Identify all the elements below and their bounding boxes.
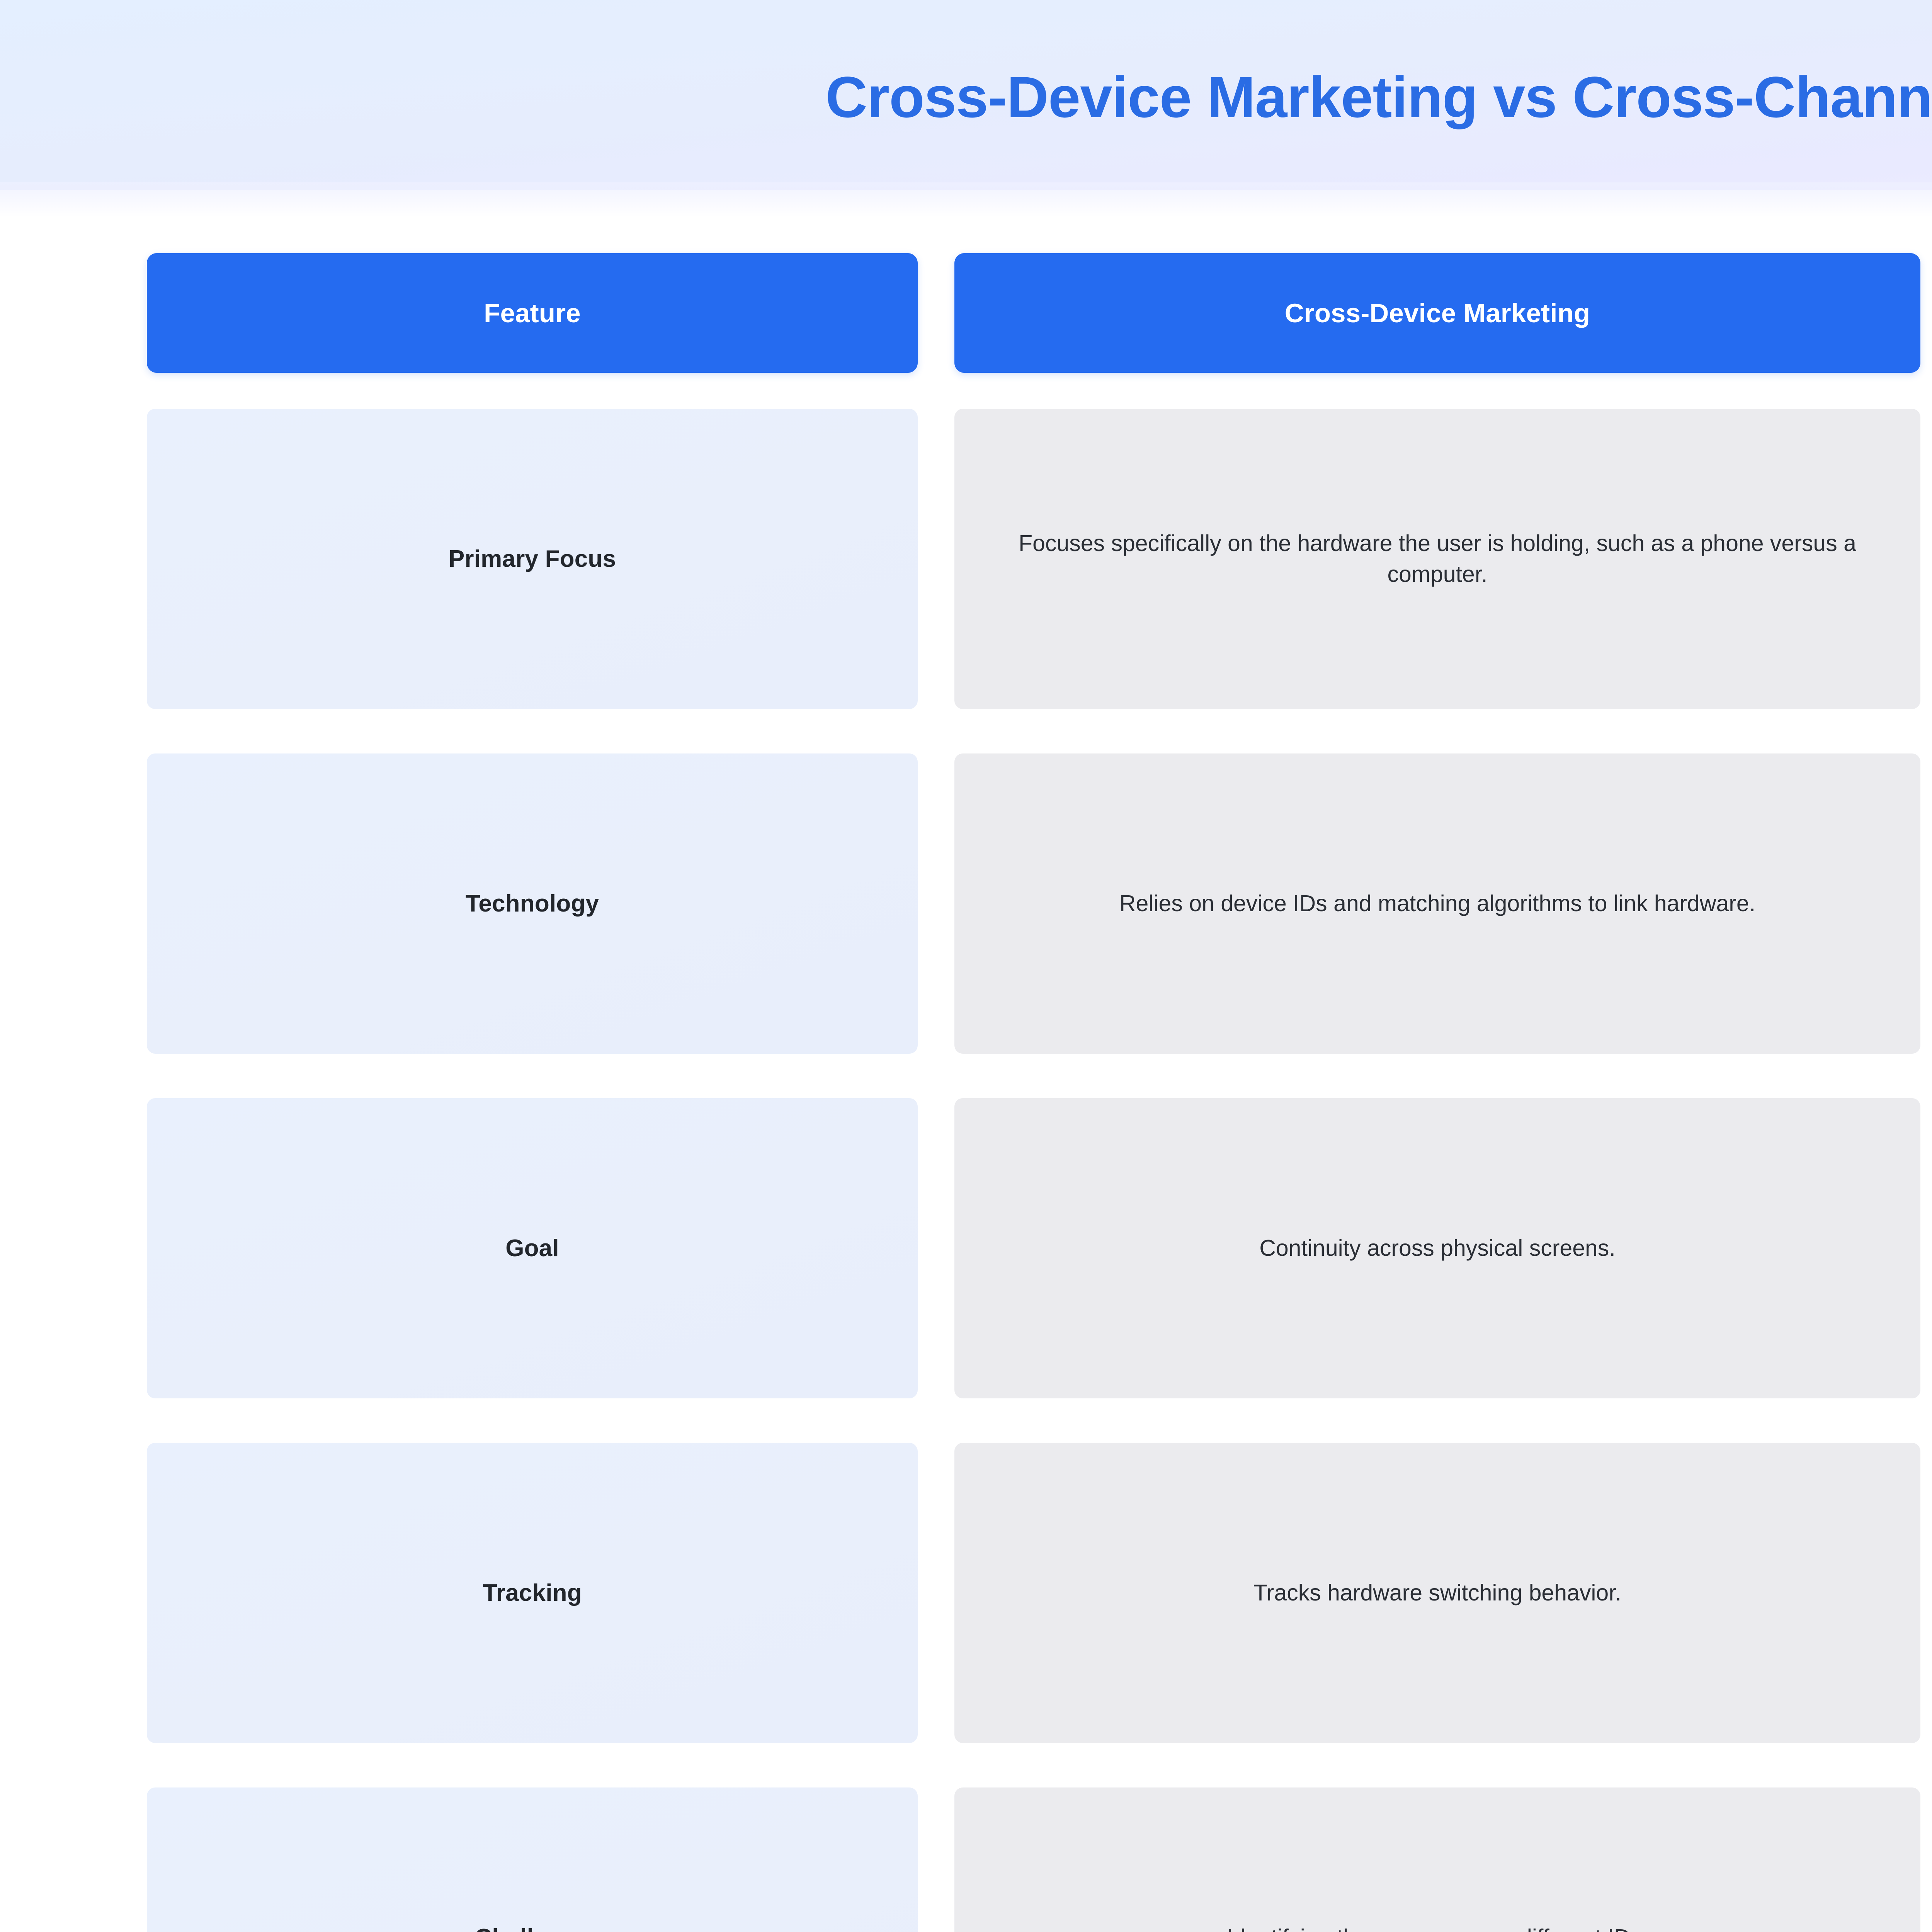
- cross-device-text: Tracks hardware switching behavior.: [1001, 1578, 1874, 1608]
- cross-device-cell: Relies on device IDs and matching algori…: [954, 753, 1920, 1054]
- cross-device-cell: Continuity across physical screens.: [954, 1098, 1920, 1398]
- feature-label: Tracking: [147, 1579, 918, 1607]
- page-header-banner: Cross-Device Marketing vs Cross-Channel …: [0, 0, 1932, 190]
- feature-cell: Challenge: [147, 1787, 918, 1932]
- table-row: Challenge Identifying the same user on d…: [147, 1787, 1932, 1932]
- feature-label: Goal: [147, 1235, 918, 1262]
- table-row: Technology Relies on device IDs and matc…: [147, 753, 1932, 1054]
- feature-cell: Tracking: [147, 1443, 918, 1743]
- feature-label: Primary Focus: [147, 545, 918, 573]
- column-header-feature: Feature: [147, 253, 918, 373]
- column-header-cross-device: Cross-Device Marketing: [954, 253, 1920, 373]
- column-header-feature-label: Feature: [147, 298, 918, 328]
- cross-device-cell: Focuses specifically on the hardware the…: [954, 409, 1920, 709]
- comparison-table: Feature Cross-Device Marketing Cross-Cha…: [147, 253, 1932, 1932]
- feature-cell: Technology: [147, 753, 918, 1054]
- cross-device-text: Focuses specifically on the hardware the…: [1001, 528, 1874, 589]
- cross-device-text: Identifying the same user on different I…: [1001, 1922, 1874, 1932]
- feature-cell: Primary Focus: [147, 409, 918, 709]
- table-row: Goal Continuity across physical screens.…: [147, 1098, 1932, 1398]
- cross-device-cell: Identifying the same user on different I…: [954, 1787, 1920, 1932]
- feature-label: Technology: [147, 890, 918, 917]
- cross-device-text: Continuity across physical screens.: [1001, 1233, 1874, 1264]
- table-row: Tracking Tracks hardware switching behav…: [147, 1443, 1932, 1743]
- table-row: Primary Focus Focuses specifically on th…: [147, 409, 1932, 709]
- page-title: Cross-Device Marketing vs Cross-Channel …: [825, 68, 1932, 126]
- cross-device-cell: Tracks hardware switching behavior.: [954, 1443, 1920, 1743]
- table-header-row: Feature Cross-Device Marketing Cross-Cha…: [147, 253, 1932, 373]
- feature-cell: Goal: [147, 1098, 918, 1398]
- column-header-cross-device-label: Cross-Device Marketing: [954, 298, 1920, 328]
- cross-device-text: Relies on device IDs and matching algori…: [1001, 888, 1874, 919]
- feature-label: Challenge: [147, 1924, 918, 1932]
